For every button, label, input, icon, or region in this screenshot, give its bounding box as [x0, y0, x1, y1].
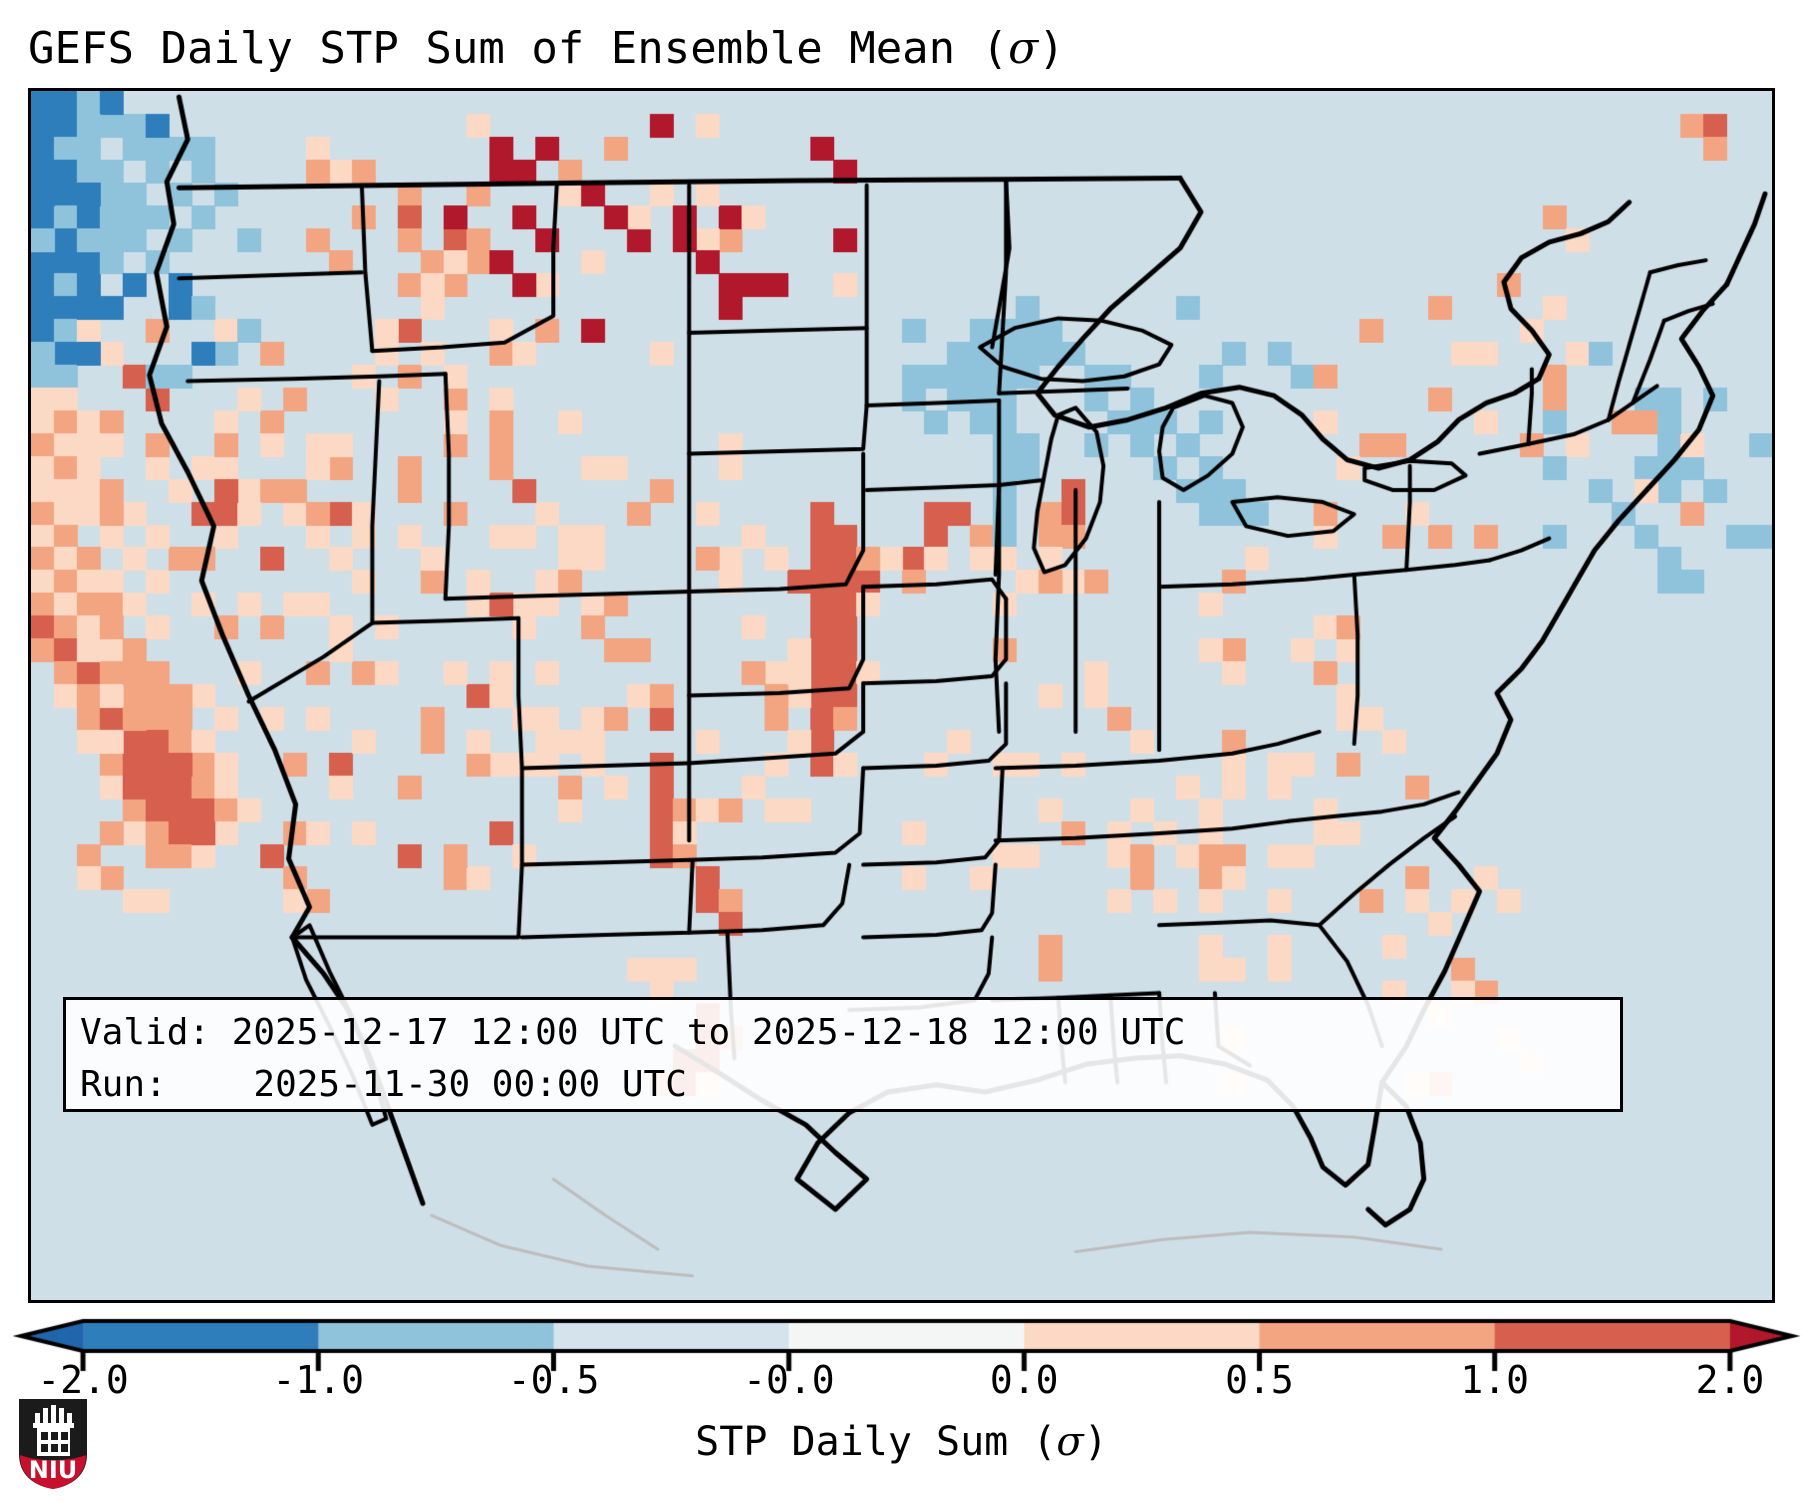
- page-title: GEFS Daily STP Sum of Ensemble Mean (σ): [28, 18, 1778, 80]
- colorbar-tick-3: -0.0: [743, 1352, 835, 1408]
- valid-time-line: Valid: 2025-12-17 12:00 UTC to 2025-12-1…: [80, 1007, 1606, 1059]
- logo-text: NIU: [29, 1456, 78, 1484]
- colorbar-tick-labels: -2.0-1.0-0.5-0.00.00.51.02.0: [0, 1352, 1803, 1408]
- colorbar-tick-1: -1.0: [273, 1352, 365, 1408]
- colorbar-tick-5: 0.5: [1225, 1352, 1294, 1408]
- niu-logo: NIU: [16, 1396, 90, 1492]
- cbar-label-prefix: STP Daily Sum (: [695, 1419, 1056, 1465]
- colorbar-tick-4: 0.0: [990, 1352, 1059, 1408]
- title-suffix: ): [1038, 23, 1065, 74]
- run-time-line: Run: 2025-11-30 00:00 UTC: [80, 1059, 1606, 1111]
- title-prefix: GEFS Daily STP Sum of Ensemble Mean (: [28, 23, 1008, 74]
- cbar-label-suffix: ): [1084, 1419, 1108, 1465]
- figure-root: GEFS Daily STP Sum of Ensemble Mean (σ) …: [0, 0, 1803, 1506]
- colorbar-tick-2: -0.5: [508, 1352, 600, 1408]
- colorbar-tick-7: 2.0: [1696, 1352, 1765, 1408]
- stp-heatmap-canvas: [31, 91, 1772, 1300]
- cbar-sigma-symbol: σ: [1056, 1419, 1083, 1465]
- map-plot-area[interactable]: Valid: 2025-12-17 12:00 UTC to 2025-12-1…: [28, 88, 1775, 1303]
- colorbar-tick-6: 1.0: [1460, 1352, 1529, 1408]
- valid-time-info-box: Valid: 2025-12-17 12:00 UTC to 2025-12-1…: [63, 997, 1623, 1112]
- sigma-symbol: σ: [1008, 23, 1038, 74]
- colorbar-axis-label: STP Daily Sum (σ): [0, 1412, 1803, 1472]
